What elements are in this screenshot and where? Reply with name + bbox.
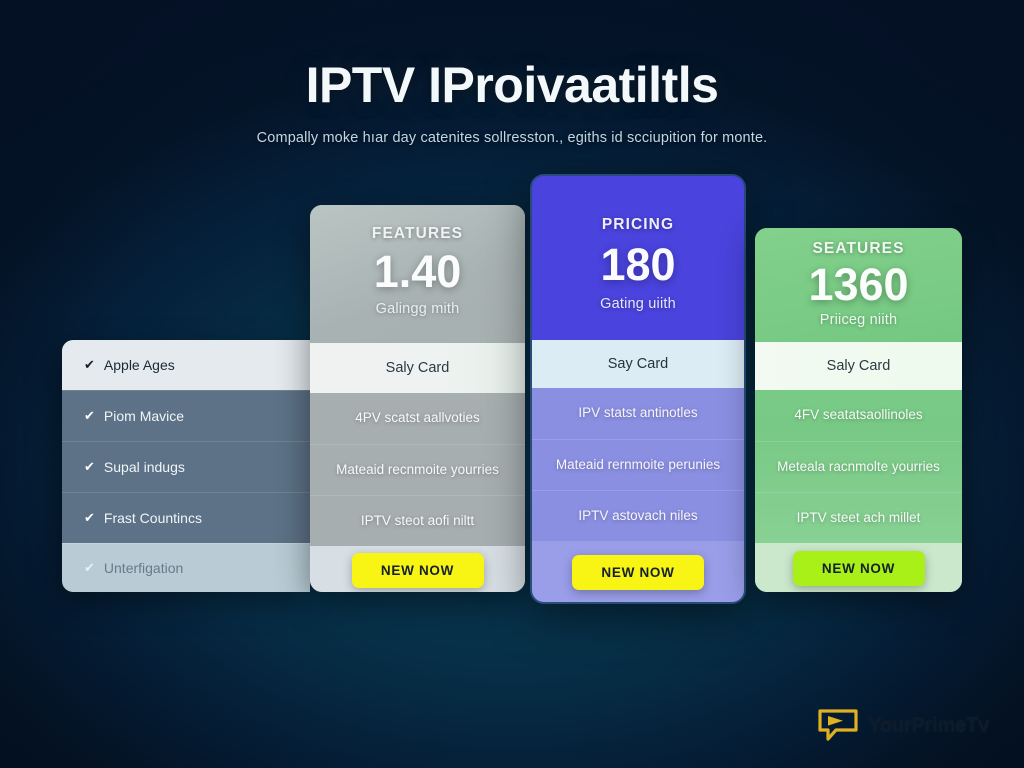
pricing-card-features[interactable]: FEATURES 1.40 Galingg mith Saly Card 4PV… xyxy=(310,205,525,592)
card-header-label: SEATURES xyxy=(755,240,962,258)
card-header-value: 1.40 xyxy=(310,249,525,295)
pricing-card-seatures[interactable]: SEATURES 1360 Priiceg niith Saly Card 4F… xyxy=(755,228,962,592)
page-title: IPTV IProivaatiltls xyxy=(0,56,1024,114)
brand-name: YourPrimeTv xyxy=(868,714,989,737)
page-header: IPTV IProivaatiltls Compally moke hıar d… xyxy=(0,56,1024,146)
pricing-card-pricing[interactable]: PRICING 180 Gating uiith Say Card IPV st… xyxy=(532,176,744,602)
check-icon: ✔ xyxy=(84,357,95,373)
card-cell: Mateaid recnmoite yourries xyxy=(310,444,525,495)
card-cell: IPTV astovach niles xyxy=(532,490,744,541)
card-header-subtitle: Gating uiith xyxy=(532,296,744,312)
card-cell: IPTV steot aofi niltt xyxy=(310,495,525,546)
card-cell: 4PV scatst aallvoties xyxy=(310,393,525,444)
feature-row[interactable]: ✔ Piom Mavice xyxy=(62,390,310,441)
play-bubble-icon xyxy=(817,708,859,742)
card-header-value: 180 xyxy=(532,242,744,288)
page-subtitle: Compally moke hıar day catenites sollres… xyxy=(0,130,1024,146)
check-icon: ✔ xyxy=(84,560,95,576)
feature-label: Supal indugs xyxy=(104,459,185,475)
card-cta-container: NEW NOW xyxy=(310,546,525,592)
feature-row[interactable]: ✔ Apple Ages xyxy=(62,340,310,390)
card-cta-container: NEW NOW xyxy=(532,541,744,602)
card-header: FEATURES 1.40 Galingg mith xyxy=(310,205,525,343)
check-icon: ✔ xyxy=(84,459,95,475)
card-cell: Meteala racnmolte yourries xyxy=(755,441,962,492)
card-cell: Mateaid rernmoite perunies xyxy=(532,439,744,490)
brand-logo: YourPrimeTv xyxy=(817,708,989,742)
feature-label: Apple Ages xyxy=(104,357,175,373)
card-cell: IPV statst antinotles xyxy=(532,388,744,439)
card-header-value: 1360 xyxy=(755,262,962,308)
card-top-row: Say Card xyxy=(532,340,744,388)
card-header: SEATURES 1360 Priiceg niith xyxy=(755,228,962,342)
card-header-label: PRICING xyxy=(532,216,744,234)
feature-row[interactable]: ✔ Supal indugs xyxy=(62,441,310,492)
card-header: PRICING 180 Gating uiith xyxy=(532,176,744,340)
feature-row[interactable]: ✔ Frast Countincs xyxy=(62,492,310,543)
check-icon: ✔ xyxy=(84,408,95,424)
card-top-row: Saly Card xyxy=(755,342,962,390)
card-cell: 4FV seatatsaollinoles xyxy=(755,390,962,441)
feature-row[interactable]: ✔ Unterfigation xyxy=(62,543,310,592)
new-now-button[interactable]: NEW NOW xyxy=(793,551,925,586)
card-cell: IPTV steet ach millet xyxy=(755,492,962,543)
new-now-button[interactable]: NEW NOW xyxy=(572,555,704,590)
feature-label: Piom Mavice xyxy=(104,408,184,424)
feature-label: Frast Countincs xyxy=(104,510,202,526)
feature-list-panel: ✔ Apple Ages ✔ Piom Mavice ✔ Supal indug… xyxy=(62,340,310,592)
check-icon: ✔ xyxy=(84,510,95,526)
card-top-row: Saly Card xyxy=(310,343,525,393)
new-now-button[interactable]: NEW NOW xyxy=(352,553,484,588)
feature-label: Unterfigation xyxy=(104,560,183,576)
card-header-subtitle: Priiceg niith xyxy=(755,312,962,328)
card-header-subtitle: Galingg mith xyxy=(310,301,525,317)
card-cta-container: NEW NOW xyxy=(755,543,962,592)
card-header-label: FEATURES xyxy=(310,225,525,243)
